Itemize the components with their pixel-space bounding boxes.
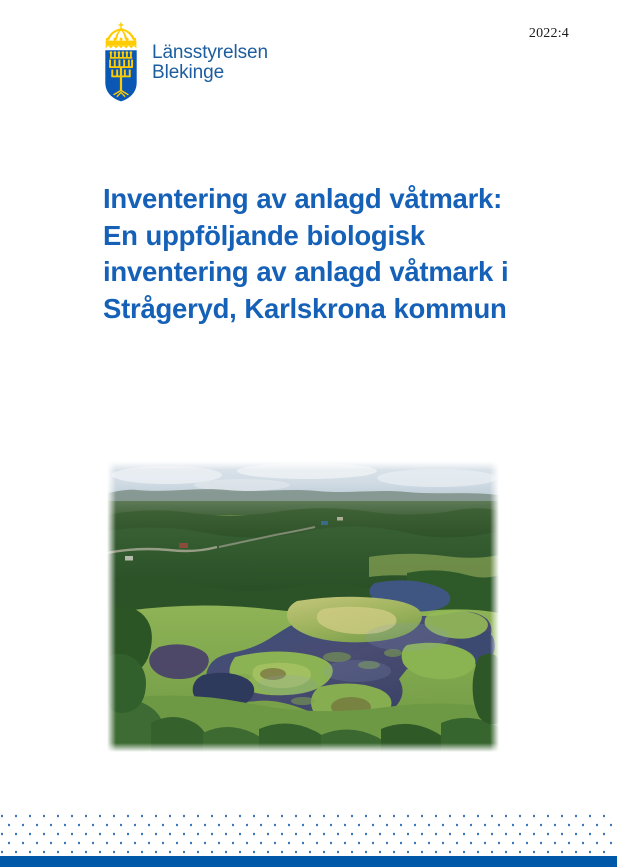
footer-blue-bar: [0, 856, 617, 867]
cover-photo-frame: [107, 461, 499, 752]
lansstyrelsen-wordmark: Länsstyrelsen Blekinge: [152, 43, 268, 83]
wordmark-line-authority: Länsstyrelsen: [152, 43, 268, 63]
report-number: 2022:4: [529, 26, 569, 42]
title-block: Inventering av anlagd våtmark: En uppföl…: [103, 181, 523, 328]
lansstyrelsen-blekinge-coat-of-arms-icon: [100, 22, 142, 102]
aerial-wetland-photograph-illustration: [107, 461, 499, 752]
footer-dot-pattern: [0, 810, 617, 856]
wordmark-line-county: Blekinge: [152, 63, 268, 83]
report-cover-page: Länsstyrelsen Blekinge 2022:4 Inventerin…: [0, 0, 617, 867]
cover-photo: [107, 461, 499, 752]
lansstyrelsen-logo: Länsstyrelsen Blekinge: [100, 22, 268, 102]
cover-header: Länsstyrelsen Blekinge 2022:4: [0, 0, 617, 130]
page-title: Inventering av anlagd våtmark: En uppföl…: [103, 181, 523, 328]
